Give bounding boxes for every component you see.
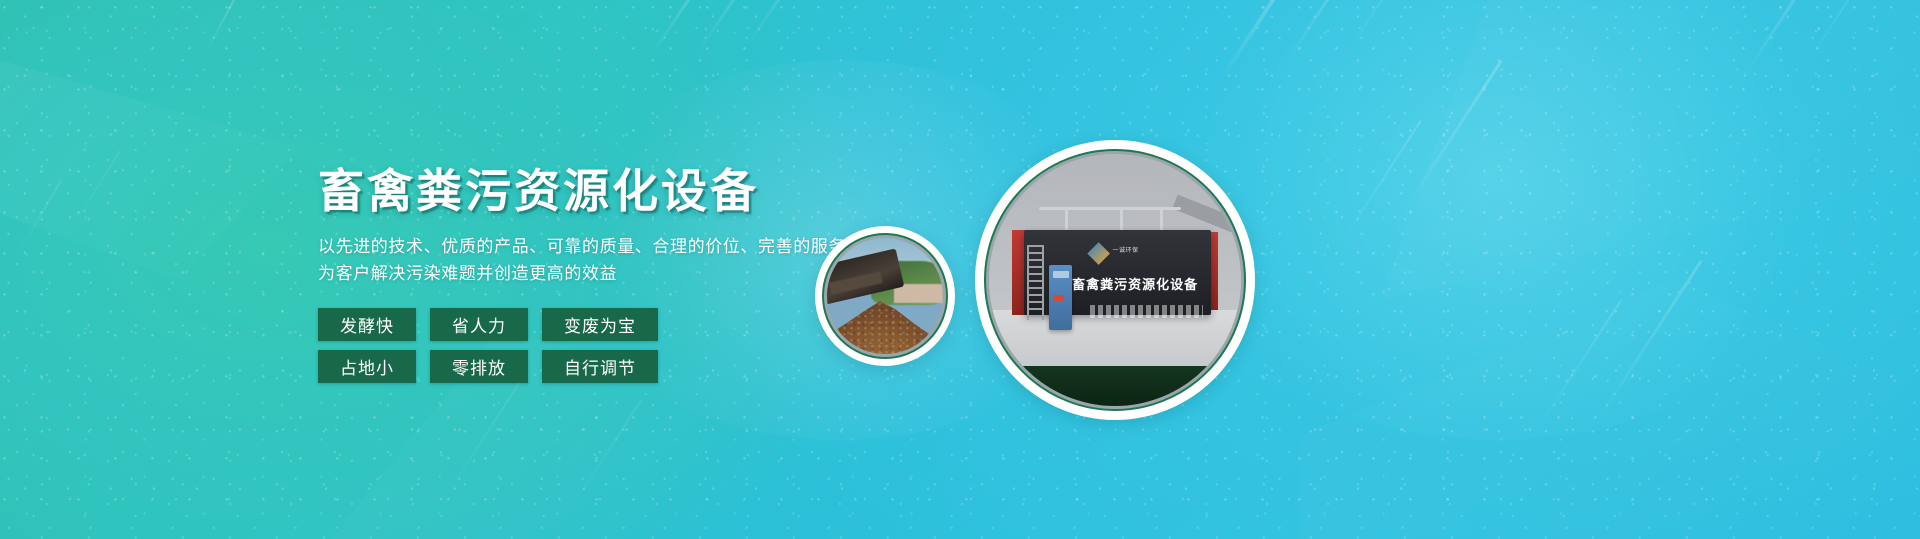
feature-chip-zero-emission[interactable]: 零排放 (430, 350, 528, 383)
compost-photo (827, 238, 943, 354)
facet-shape (1300, 280, 1920, 539)
equipment-photo: 一诚环保 畜禽粪污资源化设备 (989, 154, 1241, 406)
feature-chip-self-adjusting[interactable]: 自行调节 (542, 350, 658, 383)
building-shape (894, 284, 943, 303)
facet-shape (0, 60, 300, 280)
streak-line (1348, 0, 1401, 51)
streak-line (1285, 0, 1347, 64)
noise-texture-overlay (0, 0, 1920, 539)
feature-chip-small-footprint[interactable]: 占地小 (318, 350, 416, 383)
streak-line (1740, 0, 1808, 82)
streak-line (1219, 0, 1293, 81)
streak-line (697, 0, 747, 52)
feature-chip-waste-to-treasure[interactable]: 变废为宝 (542, 308, 658, 341)
equipment-sign-text: 畜禽粪污资源化设备 (1072, 265, 1203, 303)
feature-chip-fermentation-fast[interactable]: 发酵快 (318, 308, 416, 341)
streak-line (1338, 120, 1421, 247)
page-title: 畜禽粪污资源化设备 (318, 166, 938, 217)
streak-line (1591, 260, 1702, 429)
streak-line (15, 180, 62, 259)
feature-chip-save-labor[interactable]: 省人力 (430, 308, 528, 341)
brand-logo-text: 一诚环保 (1112, 245, 1138, 254)
decorative-streaks (0, 0, 1920, 539)
rail-post (1065, 207, 1068, 232)
facet-shape (1380, 0, 1920, 300)
streak-line (56, 150, 120, 252)
streak-line (1806, 0, 1862, 65)
rail-post (1160, 207, 1163, 232)
control-panel-cabinet (1049, 265, 1072, 331)
rail-post (1120, 207, 1123, 232)
access-ladder (1027, 245, 1045, 321)
hero-banner: 畜禽粪污资源化设备 以先进的技术、优质的产品、可靠的质量、合理的价位、完善的服务… (0, 0, 1920, 539)
glow-blob (1150, 0, 1850, 440)
streak-line (745, 0, 792, 48)
streak-line (438, 380, 521, 507)
circle-ring-border (822, 233, 948, 359)
equipment-scene: 一诚环保 畜禽粪污资源化设备 (989, 154, 1241, 406)
streak-line (205, 0, 240, 53)
equipment-sign-subtext (1090, 305, 1203, 318)
streak-line (1533, 300, 1622, 435)
compost-scene (827, 238, 943, 354)
circle-ring-border: 一诚环保 畜禽粪污资源化设备 (984, 149, 1246, 411)
equipment-photo-circle: 一诚环保 畜禽粪污资源化设备 (975, 140, 1255, 420)
feature-chip-row: 占地小 零排放 自行调节 (318, 350, 938, 383)
overhead-rail (1039, 207, 1180, 210)
compost-photo-circle (815, 226, 955, 366)
streak-line (564, 400, 642, 519)
streak-line (1402, 60, 1503, 213)
grass-strip (989, 366, 1241, 406)
streak-line (650, 0, 703, 56)
